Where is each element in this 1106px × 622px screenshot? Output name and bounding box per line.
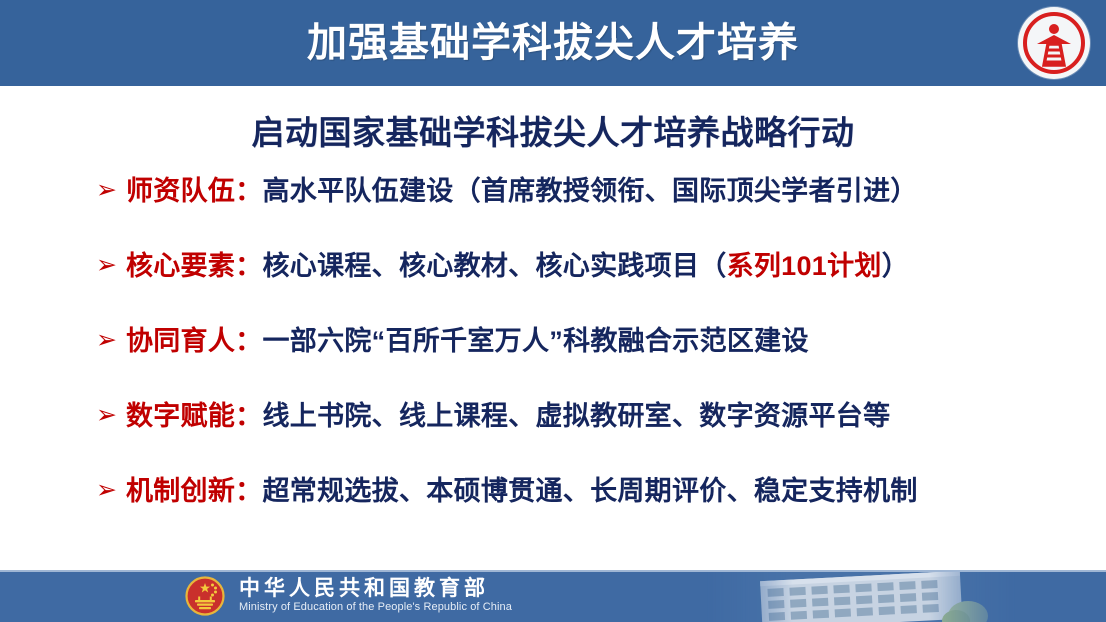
arrow-bullet-icon: ➢: [96, 253, 117, 278]
slide-header-band: 加强基础学科拔尖人才培养: [0, 0, 1106, 86]
bullet-separator: ：: [235, 401, 262, 431]
bullet-separator: ：: [235, 476, 262, 506]
arrow-bullet-icon: ➢: [96, 403, 117, 428]
slide-canvas: 加强基础学科拔尖人才培养 启动国家基础学科拔尖人才培养战略行动 ➢ 师资队伍：高…: [0, 0, 1106, 622]
bullet-segment: 一部六院“百所千室万人”科教融合示范区建设: [262, 326, 808, 356]
bullet-segment: 高水平队伍建设（首席教授领衔、国际顶尖学者引进）: [262, 176, 917, 206]
slide-body: 启动国家基础学科拔尖人才培养战略行动 ➢ 师资队伍：高水平队伍建设（首席教授领衔…: [0, 86, 1106, 570]
arrow-bullet-icon: ➢: [96, 328, 117, 353]
bullet-item: ➢ 核心要素：核心课程、核心教材、核心实践项目（系列101计划）: [96, 253, 1086, 328]
bullet-item: ➢ 协同育人：一部六院“百所千室万人”科教融合示范区建设: [96, 328, 1086, 403]
bullet-item: ➢ 师资队伍：高水平队伍建设（首席教授领衔、国际顶尖学者引进）: [96, 178, 1086, 253]
footer-ministry-name-en: Ministry of Education of the People's Re…: [239, 600, 512, 615]
bullet-label: 协同育人: [126, 326, 235, 356]
ministry-building-photo: [706, 572, 1016, 622]
bullet-segment: 超常规选拔、本硕博贯通、长周期评价、稳定支持机制: [262, 476, 917, 506]
slide-footer-band: 中华人民共和国教育部 Ministry of Education of the …: [0, 570, 1106, 622]
bullet-item: ➢ 机制创新：超常规选拔、本硕博贯通、长周期评价、稳定支持机制: [96, 478, 1086, 553]
bullet-item: ➢ 数字赋能：线上书院、线上课程、虚拟教研室、数字资源平台等: [96, 403, 1086, 478]
bullet-label: 师资队伍: [126, 176, 235, 206]
slide-subtitle: 启动国家基础学科拔尖人才培养战略行动: [0, 106, 1106, 154]
bullet-segment-highlight: 系列101计划: [727, 251, 882, 281]
bullet-separator: ：: [235, 326, 262, 356]
institution-emblem-icon: [1018, 7, 1090, 79]
bullet-label: 机制创新: [126, 476, 235, 506]
arrow-bullet-icon: ➢: [96, 178, 117, 203]
bullet-segment: 线上书院、线上课程、虚拟教研室、数字资源平台等: [262, 401, 890, 431]
bullet-segment: ）: [882, 251, 909, 281]
bullet-separator: ：: [235, 251, 262, 281]
bullet-segment: 核心课程、核心教材、核心实践项目（: [262, 251, 726, 281]
footer-ministry-identity: 中华人民共和国教育部 Ministry of Education of the …: [185, 570, 512, 622]
bullet-label: 数字赋能: [126, 401, 235, 431]
national-emblem-icon: [185, 576, 225, 616]
arrow-bullet-icon: ➢: [96, 478, 117, 503]
footer-ministry-name-cn: 中华人民共和国教育部: [239, 577, 512, 600]
bullet-list: ➢ 师资队伍：高水平队伍建设（首席教授领衔、国际顶尖学者引进） ➢ 核心要素：核…: [96, 178, 1086, 553]
slide-header-title: 加强基础学科拔尖人才培养: [307, 23, 799, 63]
bullet-separator: ：: [235, 176, 262, 206]
bullet-label: 核心要素: [126, 251, 235, 281]
